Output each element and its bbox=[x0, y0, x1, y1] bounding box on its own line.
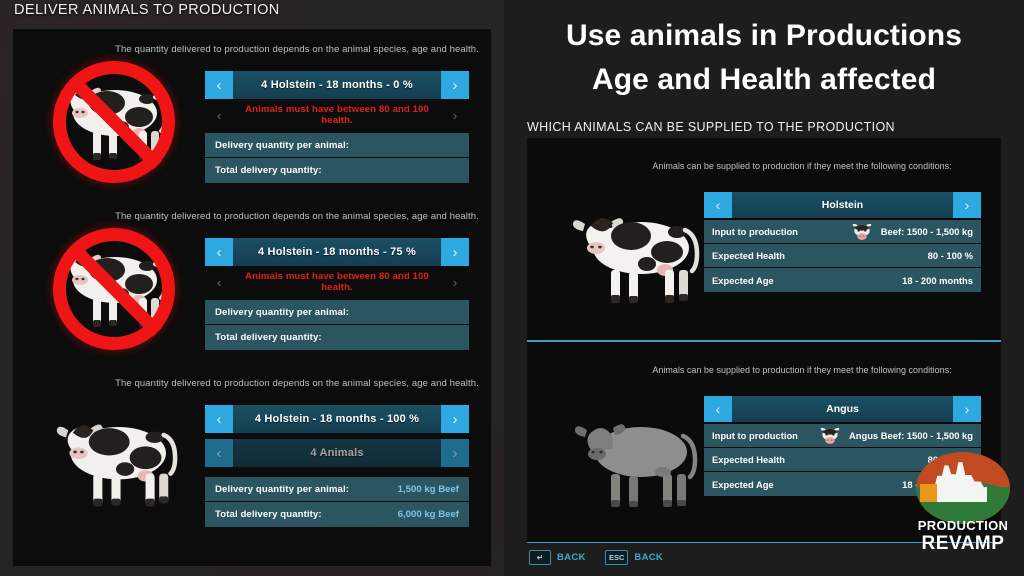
animal-selector-label: 4 Holstein - 18 months - 0 % bbox=[233, 71, 441, 99]
deliver-hint: The quantity delivered to production dep… bbox=[113, 43, 481, 56]
cow-head-icon bbox=[851, 223, 873, 241]
per-animal-label: Delivery quantity per animal: bbox=[215, 140, 349, 151]
logo-line-1: PRODUCTION bbox=[910, 518, 1016, 533]
animal-preview bbox=[35, 224, 191, 344]
cow-head-icon bbox=[819, 427, 841, 445]
next-arrow-icon[interactable]: › bbox=[441, 71, 469, 99]
animal-selector[interactable]: ‹ 4 Holstein - 18 months - 100 % › bbox=[205, 405, 469, 433]
total-value: 6,000 kg Beef bbox=[398, 509, 459, 520]
table-row: Delivery quantity per animal: 1,500 kg B… bbox=[205, 477, 469, 502]
logo-text: PRODUCTION REVAMP bbox=[910, 518, 1016, 554]
animal-selector-label: 4 Holstein - 18 months - 100 % bbox=[233, 405, 441, 433]
health-warning-text: Animals must have between 80 and 100 hea… bbox=[233, 104, 441, 126]
delivery-summary: Delivery quantity per animal: Total deli… bbox=[205, 300, 469, 350]
breed-selector[interactable]: ‹ Angus › bbox=[704, 396, 981, 422]
animal-selector[interactable]: ‹ 4 Holstein - 18 months - 75 % › bbox=[205, 238, 469, 266]
table-row: Expected Health 80 - 100 % bbox=[704, 244, 981, 268]
screenshot-root: DELIVER ANIMALS TO PRODUCTION The quanti… bbox=[0, 0, 1024, 576]
prohibited-icon bbox=[53, 61, 175, 183]
breed-selector[interactable]: ‹ Holstein › bbox=[704, 192, 981, 218]
deliver-block: The quantity delivered to production dep… bbox=[13, 363, 491, 543]
input-label: Input to production bbox=[712, 226, 798, 237]
animal-selector-label: 4 Holstein - 18 months - 75 % bbox=[233, 238, 441, 266]
back-esc-button[interactable]: ESC BACK bbox=[605, 550, 663, 565]
count-prev-arrow-icon[interactable]: ‹ bbox=[205, 439, 233, 467]
warn-next-arrow-icon: › bbox=[441, 108, 469, 123]
table-row: Total delivery quantity: bbox=[205, 158, 469, 183]
back-enter-label: BACK bbox=[557, 552, 586, 563]
logo-oval bbox=[916, 452, 1010, 524]
next-arrow-icon[interactable]: › bbox=[441, 405, 469, 433]
health-label: Expected Health bbox=[712, 250, 785, 261]
health-warning: ‹ Animals must have between 80 and 100 h… bbox=[205, 104, 469, 126]
prev-arrow-icon[interactable]: ‹ bbox=[704, 192, 732, 218]
input-label: Input to production bbox=[712, 430, 798, 441]
supply-hint: Animals can be supplied to production if… bbox=[617, 160, 987, 173]
input-value: Angus Beef: 1500 - 1,500 kg bbox=[849, 430, 973, 441]
animal-selector[interactable]: ‹ 4 Holstein - 18 months - 0 % › bbox=[205, 71, 469, 99]
table-row: Delivery quantity per animal: bbox=[205, 133, 469, 158]
angus-cow-icon bbox=[555, 404, 715, 514]
back-enter-button[interactable]: ↵ BACK bbox=[529, 550, 586, 565]
deliver-block: The quantity delivered to production dep… bbox=[13, 196, 491, 363]
prev-arrow-icon[interactable]: ‹ bbox=[205, 405, 233, 433]
age-label: Expected Age bbox=[712, 479, 774, 490]
delivery-summary: Delivery quantity per animal: 1,500 kg B… bbox=[205, 477, 469, 527]
breed-block: Animals can be supplied to production if… bbox=[527, 138, 1001, 340]
next-arrow-icon[interactable]: › bbox=[441, 238, 469, 266]
back-esc-label: BACK bbox=[634, 552, 663, 563]
logo-line-2: REVAMP bbox=[910, 533, 1016, 554]
table-row: Input to production bbox=[704, 424, 981, 448]
age-value: 18 - 200 months bbox=[902, 275, 973, 286]
prev-arrow-icon[interactable]: ‹ bbox=[704, 396, 732, 422]
health-label: Expected Health bbox=[712, 454, 785, 465]
per-animal-label: Delivery quantity per animal: bbox=[215, 307, 349, 318]
breed-name: Angus bbox=[732, 396, 953, 422]
deliver-hint: The quantity delivered to production dep… bbox=[113, 377, 481, 390]
table-row: Input to production bbox=[704, 220, 981, 244]
logo-orange-accent bbox=[920, 484, 937, 503]
esc-key-icon: ESC bbox=[605, 550, 628, 565]
per-animal-value: 1,500 kg Beef bbox=[398, 484, 459, 495]
breed-spec-table: Input to production bbox=[704, 220, 981, 292]
next-arrow-icon[interactable]: › bbox=[953, 396, 981, 422]
warn-prev-arrow-icon: ‹ bbox=[205, 275, 233, 290]
total-label: Total delivery quantity: bbox=[215, 332, 322, 343]
health-value: 80 - 100 % bbox=[928, 250, 973, 261]
headline: Use animals in Productions Age and Healt… bbox=[504, 14, 1024, 102]
table-row: Total delivery quantity: 6,000 kg Beef bbox=[205, 502, 469, 527]
table-row: Delivery quantity per animal: bbox=[205, 300, 469, 325]
health-warning-text: Animals must have between 80 and 100 hea… bbox=[233, 271, 441, 293]
table-row: Total delivery quantity: bbox=[205, 325, 469, 350]
breed-name: Holstein bbox=[732, 192, 953, 218]
prohibited-icon bbox=[53, 228, 175, 350]
warn-prev-arrow-icon: ‹ bbox=[205, 108, 233, 123]
deliver-hint: The quantity delivered to production dep… bbox=[113, 210, 481, 223]
deliver-block: The quantity delivered to production dep… bbox=[13, 29, 491, 196]
per-animal-label: Delivery quantity per animal: bbox=[215, 484, 349, 495]
deliver-dialog: The quantity delivered to production dep… bbox=[13, 28, 491, 566]
prev-arrow-icon[interactable]: ‹ bbox=[205, 71, 233, 99]
health-warning: ‹ Animals must have between 80 and 100 h… bbox=[205, 271, 469, 293]
holstein-cow-icon bbox=[41, 407, 191, 513]
logo-factory-silhouette bbox=[929, 462, 987, 502]
next-arrow-icon[interactable]: › bbox=[953, 192, 981, 218]
page-title-deliver: DELIVER ANIMALS TO PRODUCTION bbox=[14, 2, 280, 18]
input-value: Beef: 1500 - 1,500 kg bbox=[881, 226, 973, 237]
animal-preview bbox=[35, 57, 191, 177]
headline-line-2: Age and Health affected bbox=[504, 58, 1024, 102]
count-next-arrow-icon[interactable]: › bbox=[441, 439, 469, 467]
warn-next-arrow-icon: › bbox=[441, 275, 469, 290]
enter-key-icon: ↵ bbox=[529, 550, 551, 565]
prev-arrow-icon[interactable]: ‹ bbox=[205, 238, 233, 266]
holstein-cow-icon bbox=[555, 200, 715, 310]
total-label: Total delivery quantity: bbox=[215, 509, 322, 520]
supply-hint: Animals can be supplied to production if… bbox=[617, 364, 987, 377]
animal-count-selector[interactable]: ‹ 4 Animals › bbox=[205, 439, 469, 467]
page-title-supply: WHICH ANIMALS CAN BE SUPPLIED TO THE PRO… bbox=[527, 120, 895, 134]
delivery-summary: Delivery quantity per animal: Total deli… bbox=[205, 133, 469, 183]
headline-line-1: Use animals in Productions bbox=[504, 14, 1024, 58]
total-label: Total delivery quantity: bbox=[215, 165, 322, 176]
animal-preview bbox=[35, 397, 191, 517]
deliver-animals-pane: DELIVER ANIMALS TO PRODUCTION The quanti… bbox=[0, 0, 504, 576]
production-revamp-logo: PRODUCTION REVAMP bbox=[910, 452, 1016, 564]
table-row: Expected Age 18 - 200 months bbox=[704, 268, 981, 292]
age-label: Expected Age bbox=[712, 275, 774, 286]
animal-count-label: 4 Animals bbox=[233, 439, 441, 467]
